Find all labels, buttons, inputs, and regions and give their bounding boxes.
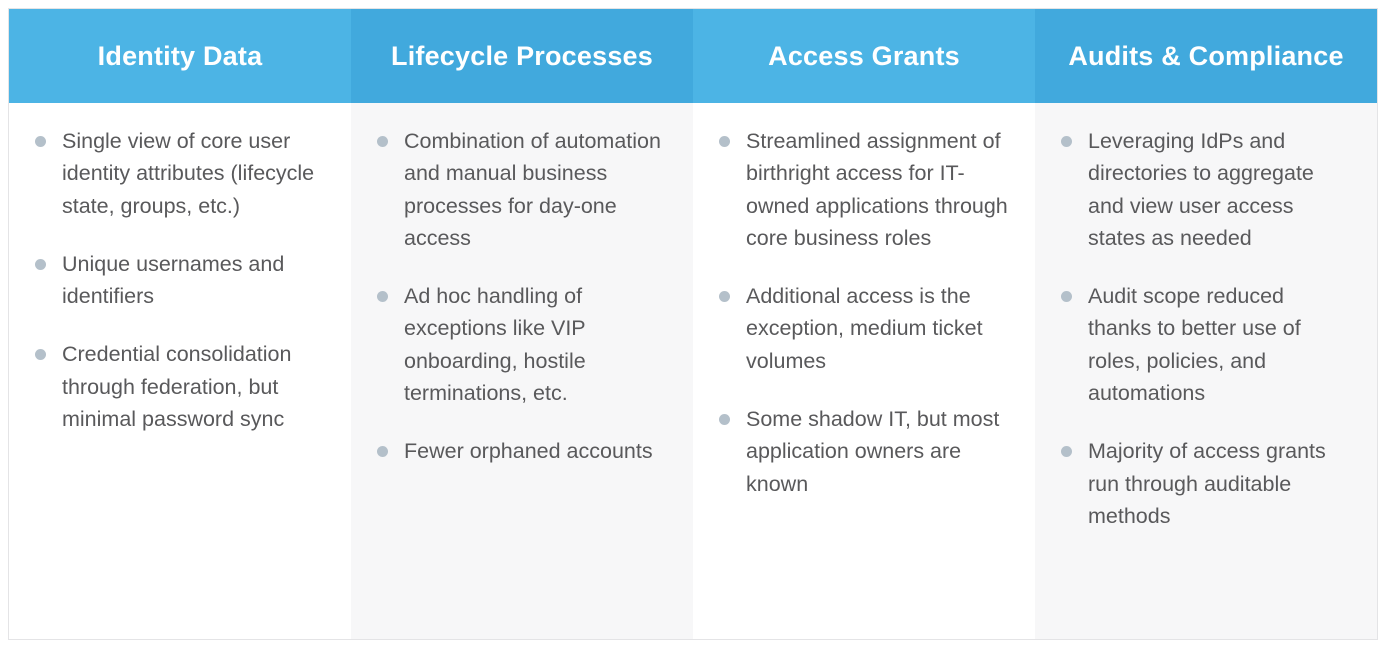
column-header-label: Identity Data	[98, 41, 263, 72]
list-item-text: Streamlined assignment of birthright acc…	[746, 129, 1008, 250]
list-item: Streamlined assignment of birthright acc…	[711, 125, 1009, 254]
list-item: Single view of core user identity attrib…	[27, 125, 325, 222]
table-header-row: Identity Data Lifecycle Processes Access…	[9, 9, 1377, 103]
column-body-lifecycle-processes: Combination of automation and manual bus…	[351, 103, 693, 639]
column-header-label: Lifecycle Processes	[391, 41, 653, 72]
bullet-list: Combination of automation and manual bus…	[369, 125, 667, 468]
list-item: Combination of automation and manual bus…	[369, 125, 667, 254]
bullet-list: Leveraging IdPs and directories to aggre…	[1053, 125, 1351, 532]
list-item-text: Combination of automation and manual bus…	[404, 129, 661, 250]
list-item-text: Additional access is the exception, medi…	[746, 284, 983, 373]
list-item: Unique usernames and identifiers	[27, 248, 325, 313]
column-header-audits-compliance: Audits & Compliance	[1035, 9, 1377, 103]
list-item-text: Credential consolidation through federat…	[62, 342, 291, 431]
list-item: Leveraging IdPs and directories to aggre…	[1053, 125, 1351, 254]
column-header-label: Access Grants	[768, 41, 960, 72]
list-item-text: Ad hoc handling of exceptions like VIP o…	[404, 284, 586, 405]
column-body-access-grants: Streamlined assignment of birthright acc…	[693, 103, 1035, 639]
bullet-dot-icon	[719, 291, 730, 302]
bullet-dot-icon	[1061, 446, 1072, 457]
bullet-dot-icon	[35, 136, 46, 147]
list-item: Audit scope reduced thanks to better use…	[1053, 280, 1351, 409]
list-item-text: Unique usernames and identifiers	[62, 252, 284, 308]
maturity-comparison-table: Identity Data Lifecycle Processes Access…	[8, 8, 1378, 640]
bullet-list: Single view of core user identity attrib…	[27, 125, 325, 435]
bullet-dot-icon	[1061, 291, 1072, 302]
column-header-label: Audits & Compliance	[1068, 41, 1343, 72]
list-item: Additional access is the exception, medi…	[711, 280, 1009, 377]
list-item: Majority of access grants run through au…	[1053, 435, 1351, 532]
list-item: Fewer orphaned accounts	[369, 435, 667, 467]
bullet-dot-icon	[35, 349, 46, 360]
column-body-identity-data: Single view of core user identity attrib…	[9, 103, 351, 639]
list-item-text: Leveraging IdPs and directories to aggre…	[1088, 129, 1314, 250]
bullet-dot-icon	[1061, 136, 1072, 147]
column-header-access-grants: Access Grants	[693, 9, 1035, 103]
bullet-dot-icon	[377, 136, 388, 147]
column-header-lifecycle-processes: Lifecycle Processes	[351, 9, 693, 103]
list-item-text: Majority of access grants run through au…	[1088, 439, 1326, 528]
bullet-dot-icon	[719, 414, 730, 425]
bullet-list: Streamlined assignment of birthright acc…	[711, 125, 1009, 500]
list-item-text: Audit scope reduced thanks to better use…	[1088, 284, 1301, 405]
list-item-text: Fewer orphaned accounts	[404, 439, 653, 463]
list-item: Some shadow IT, but most application own…	[711, 403, 1009, 500]
list-item-text: Single view of core user identity attrib…	[62, 129, 314, 218]
list-item-text: Some shadow IT, but most application own…	[746, 407, 999, 496]
bullet-dot-icon	[35, 259, 46, 270]
table-body-row: Single view of core user identity attrib…	[9, 103, 1377, 639]
list-item: Ad hoc handling of exceptions like VIP o…	[369, 280, 667, 409]
list-item: Credential consolidation through federat…	[27, 338, 325, 435]
column-header-identity-data: Identity Data	[9, 9, 351, 103]
bullet-dot-icon	[377, 446, 388, 457]
column-body-audits-compliance: Leveraging IdPs and directories to aggre…	[1035, 103, 1377, 639]
bullet-dot-icon	[719, 136, 730, 147]
bullet-dot-icon	[377, 291, 388, 302]
